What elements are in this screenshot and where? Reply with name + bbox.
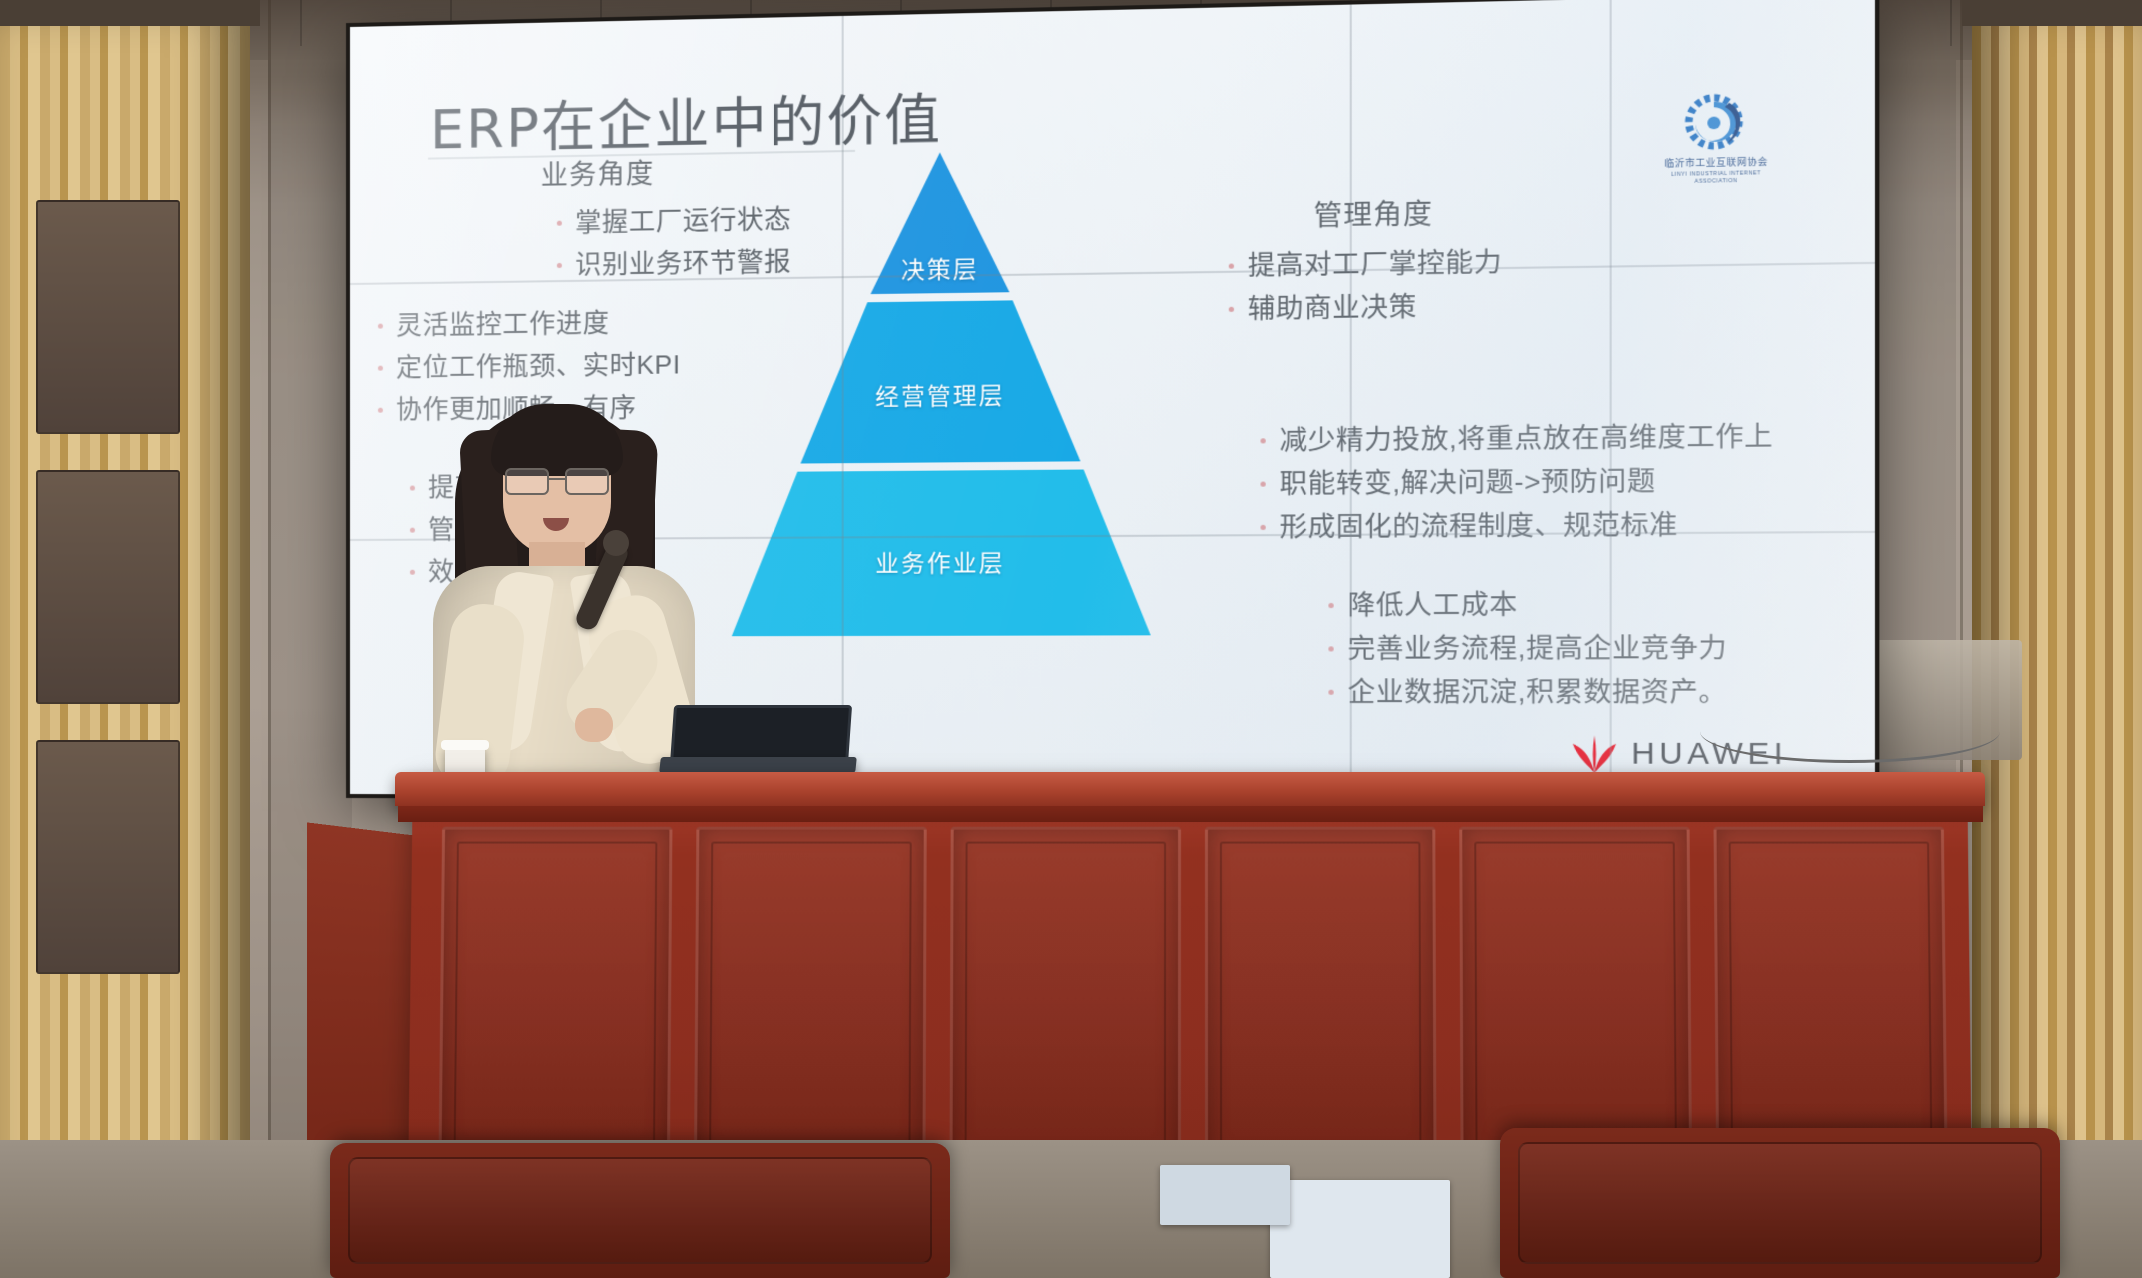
- bullet-text: 灵活监控工作进度: [396, 302, 610, 347]
- curtain-rail-left: [0, 0, 260, 26]
- podium-countertop: [395, 772, 1985, 806]
- bullet-text: 降低人工成本: [1348, 583, 1518, 627]
- list-item: 完善业务流程,提高企业竞争力: [1328, 626, 1727, 670]
- bullet-dot: [1328, 603, 1333, 608]
- paper-sheet: [1160, 1165, 1290, 1225]
- chair-front-left: [330, 1143, 950, 1278]
- hand-right: [575, 708, 613, 742]
- wood-wall-panel: [36, 470, 180, 704]
- list-item: 提高对工厂掌控能力: [1229, 240, 1502, 287]
- glasses-icon: [505, 468, 609, 492]
- chair-panel: [1518, 1142, 2042, 1264]
- bullet-dot: [557, 263, 562, 268]
- bullet-dot: [378, 324, 383, 329]
- podium-panel: [438, 827, 672, 1163]
- cup-lid: [441, 740, 489, 750]
- bullet-text: 企业数据沉淀,积累数据资产。: [1348, 670, 1728, 714]
- microphone-head: [603, 530, 629, 556]
- bullet-text: 辅助商业决策: [1248, 285, 1417, 331]
- bullet-text: 减少精力投放,将重点放在高维度工作上: [1280, 414, 1774, 462]
- bullet-dot: [1229, 264, 1234, 269]
- podium-panel: [1714, 827, 1948, 1163]
- pyramid-label-top: 决策层: [683, 247, 1202, 289]
- bullet-dot: [1328, 690, 1333, 695]
- screen-bezel: [1350, 5, 1352, 798]
- bullet-dot: [410, 486, 415, 491]
- cable: [1700, 700, 2000, 763]
- left-column-heading: 业务角度: [541, 151, 655, 192]
- laptop-lid: [670, 705, 852, 765]
- bullet-text: 完善业务流程,提高企业竞争力: [1348, 626, 1728, 670]
- hair-fringe: [491, 404, 623, 476]
- podium-panel: [694, 827, 927, 1163]
- bullet-text: 定位工作瓶颈、实时KPI: [396, 343, 681, 389]
- bullet-dot: [410, 570, 415, 575]
- right-bullets-group-1: 提高对工厂掌控能力 辅助商业决策: [1229, 240, 1502, 331]
- lens-right: [565, 468, 609, 495]
- right-column-heading: 管理角度: [1314, 191, 1433, 233]
- pyramid-label-middle: 经营管理层: [683, 374, 1202, 414]
- list-item: 减少精力投放,将重点放在高维度工作上: [1260, 414, 1773, 462]
- wood-wall-panel: [36, 740, 180, 974]
- bullet-dot: [378, 408, 383, 413]
- wood-wall-panel: [36, 200, 180, 434]
- podium-panel: [1205, 827, 1437, 1163]
- podium-rail: [398, 806, 1983, 822]
- gear-swirl-icon: [1681, 88, 1751, 156]
- curtain-right: [1972, 0, 2142, 1278]
- bullet-dot: [1260, 525, 1265, 530]
- bullet-text: 提高对工厂掌控能力: [1248, 240, 1502, 287]
- list-item: 职能转变,解决问题->预防问题: [1260, 458, 1773, 505]
- bullet-dot: [1260, 482, 1265, 487]
- association-name: 临沂市工业互联网协会: [1652, 156, 1781, 170]
- right-bullets-group-3: 降低人工成本 完善业务流程,提高企业竞争力 企业数据沉淀,积累数据资产。: [1328, 582, 1727, 714]
- right-bullets-group-2: 减少精力投放,将重点放在高维度工作上 职能转变,解决问题->预防问题 形成固化的…: [1260, 414, 1773, 549]
- pyramid-diagram: 决策层 经营管理层 业务作业层: [683, 140, 1202, 645]
- bullet-dot: [1260, 438, 1265, 443]
- list-item: 降低人工成本: [1328, 582, 1727, 627]
- chair-front-right: [1500, 1128, 2060, 1278]
- bullet-text: 职能转变,解决问题->预防问题: [1280, 459, 1656, 505]
- podium-panel: [1459, 827, 1692, 1163]
- glasses-bridge: [547, 478, 567, 480]
- chair-panel: [348, 1157, 932, 1264]
- bullet-text: 形成固化的流程制度、规范标准: [1280, 503, 1678, 549]
- conference-room-photo: ERP在企业中的价值 业务角度 掌握工厂运行状态 识别业务环节警报 灵活监控工作…: [0, 0, 2142, 1278]
- screen-bezel: [842, 16, 844, 796]
- screen-bezel: [1610, 0, 1612, 798]
- laptop-screen: [677, 712, 844, 758]
- bullet-dot: [557, 221, 562, 226]
- list-item: 灵活监控工作进度: [378, 301, 681, 347]
- bullet-dot: [378, 366, 383, 371]
- association-subname: LINYI INDUSTRIAL INTERNET ASSOCIATION: [1652, 170, 1781, 185]
- bullet-dot: [410, 528, 415, 533]
- association-logo: 临沂市工业互联网协会 LINYI INDUSTRIAL INTERNET ASS…: [1652, 87, 1781, 190]
- laptop[interactable]: [660, 705, 850, 777]
- list-item: 定位工作瓶颈、实时KPI: [378, 343, 681, 389]
- curtain-rail-right: [1962, 0, 2142, 26]
- bullet-dot: [1229, 307, 1234, 312]
- list-item: 企业数据沉淀,积累数据资产。: [1328, 670, 1727, 714]
- lens-left: [505, 468, 549, 495]
- bullet-dot: [1328, 646, 1333, 651]
- list-item: 形成固化的流程制度、规范标准: [1260, 502, 1773, 549]
- pyramid-label-bottom: 业务作业层: [683, 543, 1202, 580]
- podium-panel: [950, 827, 1182, 1163]
- paper-sheet: [1270, 1180, 1450, 1278]
- list-item: 辅助商业决策: [1229, 284, 1502, 331]
